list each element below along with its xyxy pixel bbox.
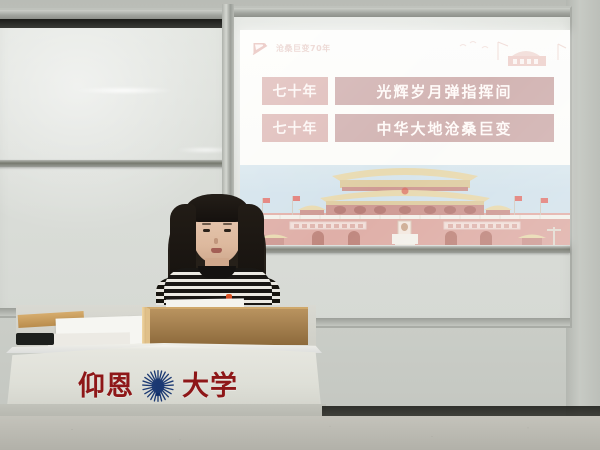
light-reflection-glare: [74, 87, 174, 94]
banner-text: 中华大地沧桑巨变: [335, 114, 554, 142]
flag-row-right: [514, 196, 548, 216]
side-pavilion-right: [484, 206, 512, 217]
shirt-collar: [198, 266, 236, 278]
gate-upper-roof: [332, 168, 478, 181]
whiteboard-top-shadow-strip: [0, 19, 224, 28]
yangen-university-radiating-seal: [140, 368, 176, 404]
whiteboard-top-frame: [0, 10, 226, 19]
inscription-right-text: 大学: [182, 373, 238, 400]
mouth: [211, 248, 222, 253]
classroom-scene: 沧桑巨变70年 七十年 光辉岁: [0, 0, 600, 450]
whiteboard-top-frame-right: [230, 8, 570, 17]
slide-header: 沧桑巨变70年: [240, 30, 570, 70]
slide-banner-row: 七十年 中华大地沧桑巨变: [262, 114, 554, 142]
banner-gap: [328, 114, 335, 142]
eye-right: [224, 229, 231, 232]
lectern-inscription: 仰恩 大学: [30, 365, 286, 407]
gate-emblem: [402, 188, 409, 195]
dark-device: [16, 333, 54, 345]
presentation-board: [146, 307, 308, 345]
slide-banner-list: 七十年 光辉岁月弹指挥间 七十年 中华大地沧桑巨变: [262, 77, 554, 151]
projected-slide: 沧桑巨变70年 七十年 光辉岁: [240, 30, 570, 245]
banner-year-label: 七十年: [262, 77, 328, 105]
inscription-left-text: 仰恩: [78, 373, 134, 400]
terrazzo-floor: [0, 416, 600, 450]
skyline-illustration: [450, 36, 570, 72]
banner-gap: [328, 77, 335, 105]
eye-left: [203, 229, 210, 232]
whiteboard-middle-rail: [0, 160, 226, 167]
central-gate: [392, 234, 418, 244]
ccp-hammer-sickle-emblem: [252, 41, 269, 56]
side-pavilion-left: [298, 206, 326, 217]
slide-banner-row: 七十年 光辉岁月弹指挥间: [262, 77, 554, 105]
eyebrow-left: [202, 223, 211, 225]
eyebrow-right: [223, 223, 232, 225]
nose: [214, 238, 218, 244]
tiananmen-gate-illustration: [240, 160, 570, 245]
banner-text: 光辉岁月弹指挥间: [335, 77, 554, 105]
slide-header-title: 沧桑巨变70年: [276, 43, 331, 54]
banner-year-label: 七十年: [262, 114, 328, 142]
